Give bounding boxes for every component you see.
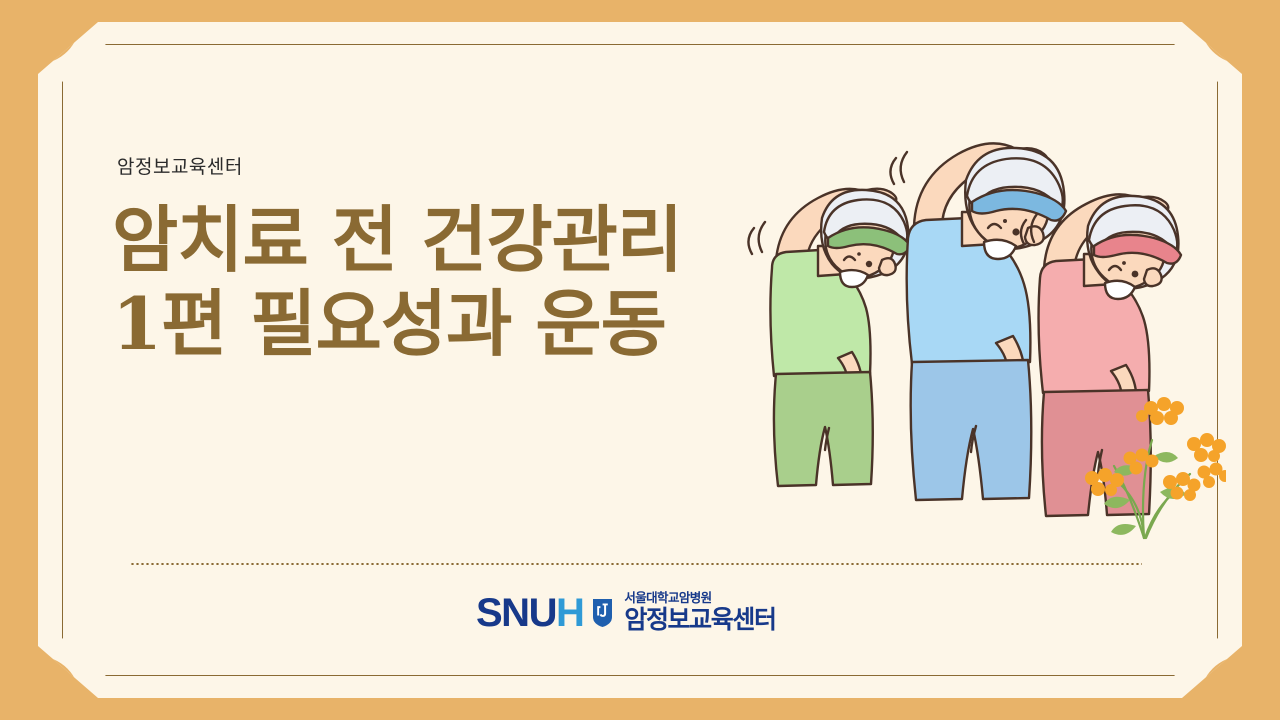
snuh-wordmark-dark: SNU <box>476 591 556 635</box>
senior-green-shirt <box>748 189 910 486</box>
corner-notch-bottom-left <box>0 656 80 720</box>
corner-notch-top-right <box>1200 0 1280 64</box>
logo-hospital-name: 서울대학교암병원 <box>624 592 775 606</box>
snuh-wordmark: SNUH <box>476 593 583 633</box>
corner-notch-bottom-right <box>1200 656 1280 720</box>
snuh-wordmark-light: H <box>556 591 583 635</box>
snuh-shield-icon <box>590 597 615 628</box>
dotted-divider <box>130 563 1142 565</box>
eyebrow-label: 암정보교육센터 <box>117 152 243 179</box>
title-line-2: 1편 필요성과 운동 <box>112 282 682 366</box>
senior-pink-shirt <box>1021 194 1181 516</box>
slide-canvas: .ol{ fill:none; stroke:#4a3328; stroke-w… <box>0 0 1280 720</box>
corner-notch-top-left <box>0 0 80 64</box>
three-seniors-side-stretch-illustration: .ol{ fill:none; stroke:#4a3328; stroke-w… <box>726 120 1226 540</box>
snuh-cancer-education-center-logo: SNUH 서울대학교암병원 암정보교육센터 <box>476 592 776 634</box>
page-title: 암치료 전 건강관리 1편 필요성과 운동 <box>112 198 682 365</box>
logo-korean-text: 서울대학교암병원 암정보교육센터 <box>624 592 775 634</box>
logo-center-name: 암정보교육센터 <box>624 606 775 634</box>
title-line-1: 암치료 전 건강관리 <box>112 198 682 282</box>
